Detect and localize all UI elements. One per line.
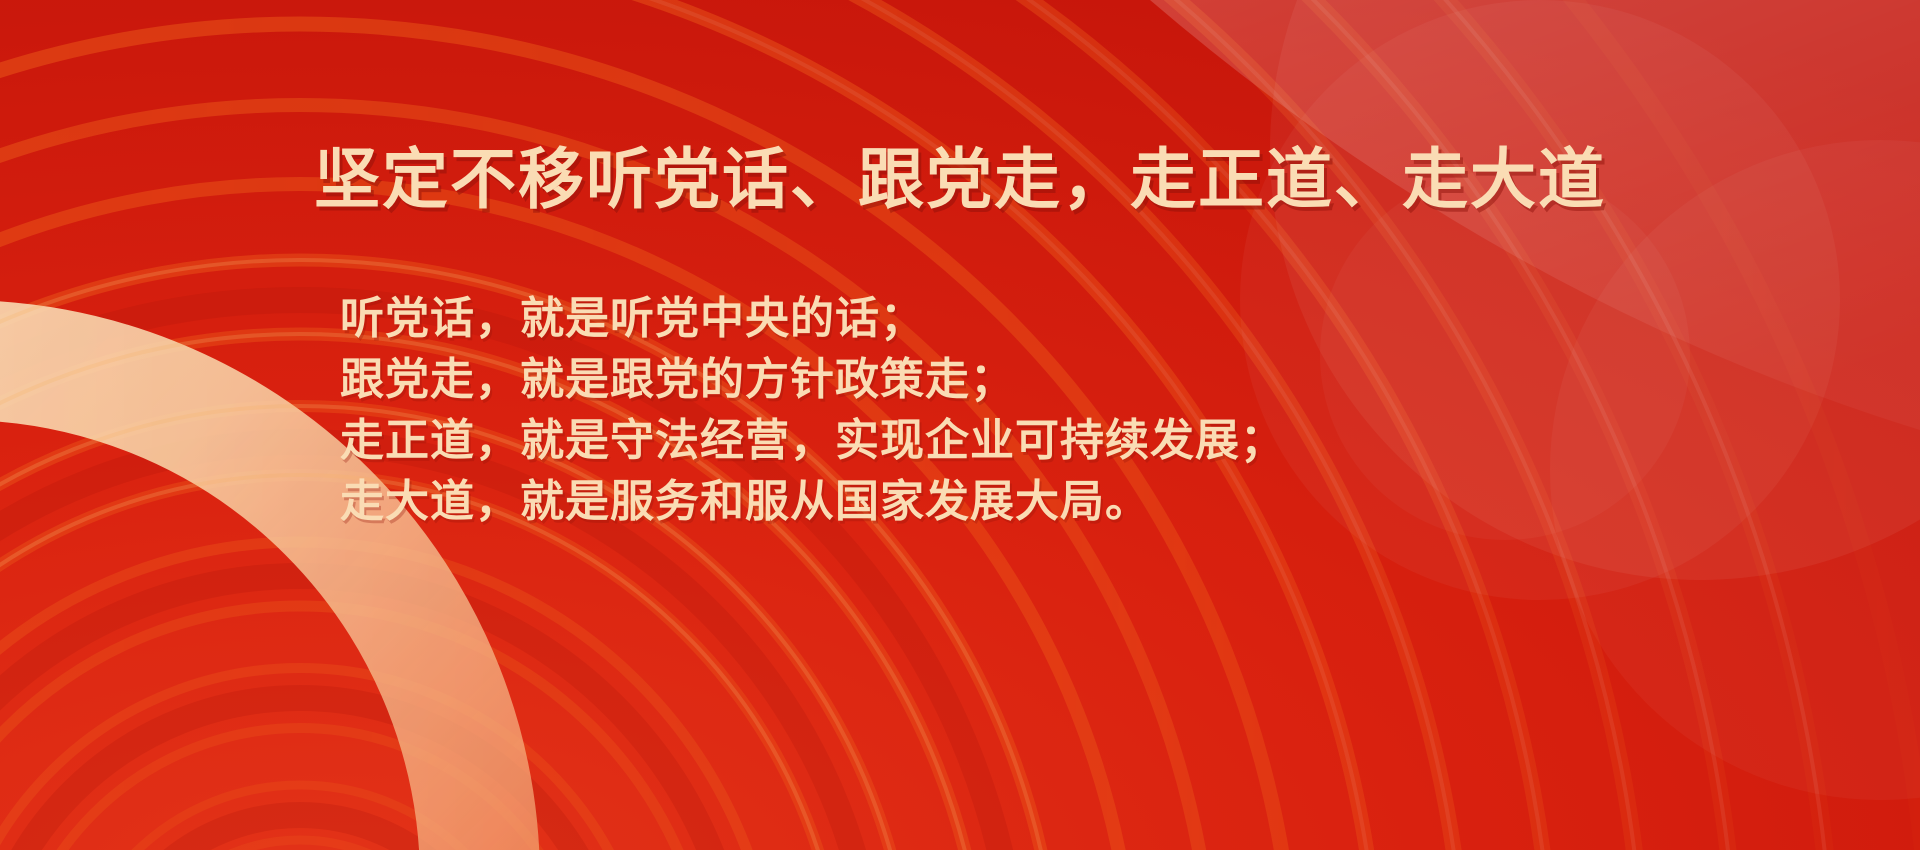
content-layer: 坚定不移听党话、跟党走，走正道、走大道 听党话，就是听党中央的话； 跟党走，就是… (0, 0, 1920, 850)
body-line-3: 走正道，就是守法经营，实现企业可持续发展； (340, 410, 1640, 471)
body-line-4: 走大道，就是服务和服从国家发展大局。 (340, 471, 1640, 532)
body-text-block: 听党话，就是听党中央的话； 跟党走，就是跟党的方针政策走； 走正道，就是守法经营… (340, 288, 1640, 532)
poster-banner: 坚定不移听党话、跟党走，走正道、走大道 听党话，就是听党中央的话； 跟党走，就是… (0, 0, 1920, 850)
page-title: 坚定不移听党话、跟党走，走正道、走大道 (0, 140, 1920, 220)
body-line-2: 跟党走，就是跟党的方针政策走； (340, 349, 1640, 410)
body-line-1: 听党话，就是听党中央的话； (340, 288, 1640, 349)
